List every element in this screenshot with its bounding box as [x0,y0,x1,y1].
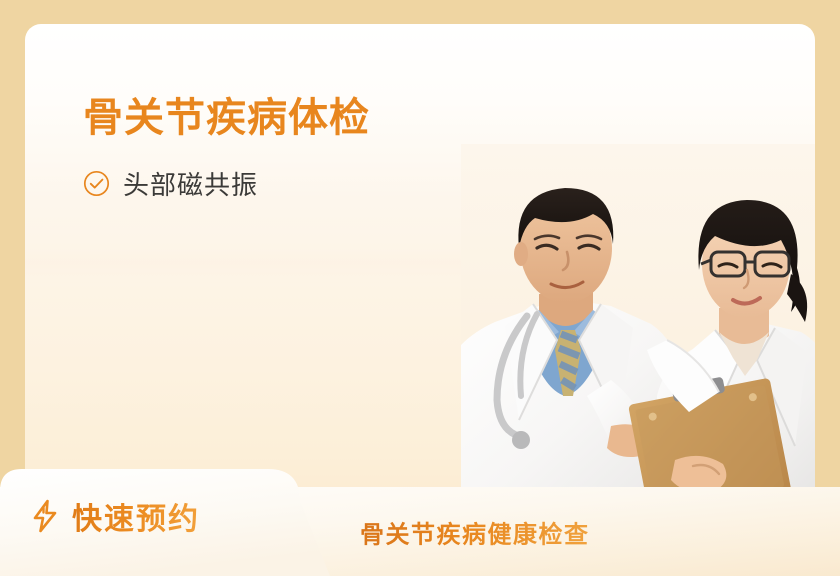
package-name: 骨关节疾病健康检查 [360,514,590,549]
page-title: 骨关节疾病体检 [83,94,370,143]
lightning-bolt-icon [30,499,60,533]
quick-book-button[interactable]: 快速预约 [0,455,330,576]
quick-book-label: 快速预约 [72,494,200,538]
quick-book-content: 快速预约 [30,494,200,538]
feature-item: 头部磁共振 [83,165,370,202]
feature-label: 头部磁共振 [123,165,258,202]
promo-card: 骨关节疾病体检 头部磁共振 骨关节疾病健康检查 [0,0,840,576]
hero-text-block: 骨关节疾病体检 头部磁共振 [83,94,370,202]
check-circle-icon [83,170,110,197]
doctors-photo [461,144,815,516]
